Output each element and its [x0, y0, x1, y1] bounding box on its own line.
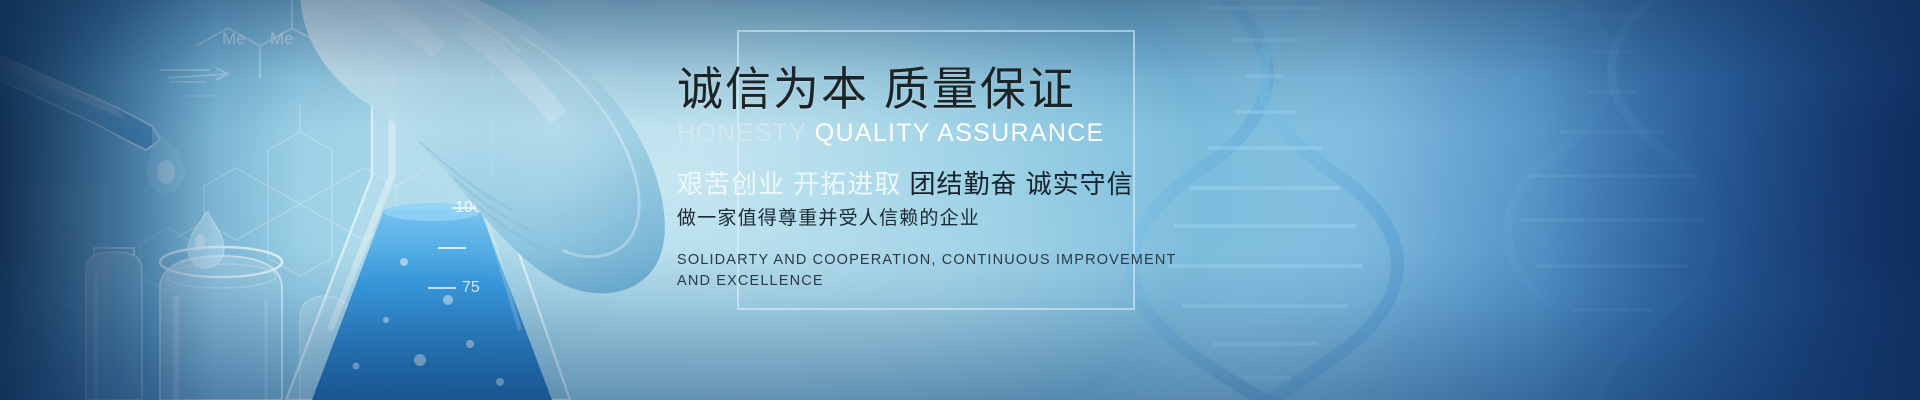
subtitle-quality-assurance-text: QUALITY ASSURANCE: [815, 119, 1105, 147]
subtitle-honesty-text: HONESTY: [677, 119, 815, 147]
slogan-second-half-text: 团结勤奋 诚实守信: [909, 169, 1133, 199]
banner-slogan: 艰苦创业 开拓进取 团结勤奋 诚实守信: [677, 168, 1277, 202]
banner-subtitle-english: HONESTY QUALITY ASSURANCE: [677, 118, 1277, 148]
banner-headline: 诚信为本 质量保证: [677, 62, 1277, 116]
banner-footer-english: SOLIDARTY AND COOPERATION, CONTINUOUS IM…: [677, 250, 1277, 294]
banner-text-block: 诚信为本 质量保证 HONESTY QUALITY ASSURANCE 艰苦创业…: [677, 62, 1277, 293]
slogan-first-half-text: 艰苦创业 开拓进取: [677, 169, 909, 199]
footer-english-line-2: AND EXCELLENCE: [677, 271, 1277, 293]
promotional-banner: VCrMn NbMoTc TaWRe DbSgBh PrNdPm PaUNp: [0, 0, 1920, 400]
footer-english-line-1: SOLIDARTY AND COOPERATION, CONTINUOUS IM…: [677, 250, 1277, 272]
banner-tagline: 做一家值得尊重并受人信赖的企业: [677, 206, 1277, 232]
